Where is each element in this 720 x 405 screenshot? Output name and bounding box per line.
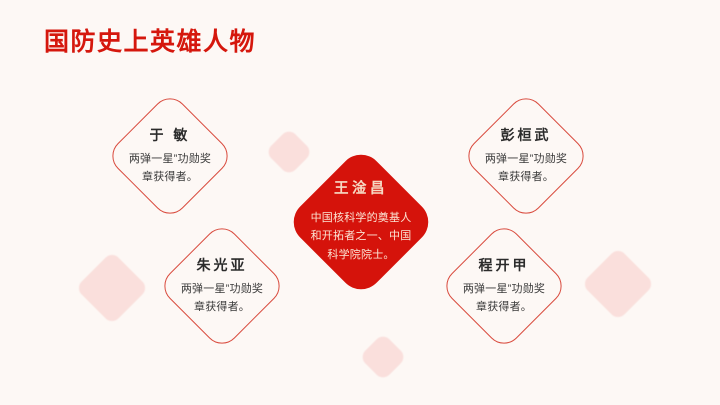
- hero-card-penghuanwu-description: 两弹一星”功勋奖章获得者。: [480, 150, 572, 186]
- hero-card-zhuguangya-name: 朱光亚: [197, 256, 248, 276]
- decor-diamond-left-lower: [75, 251, 149, 325]
- decor-diamond-right-lower: [581, 247, 655, 321]
- hero-card-chengkaijia-name: 程开甲: [479, 256, 530, 276]
- hero-card-yumin-name: 于 敏: [150, 126, 191, 146]
- hero-card-yumin-content: 于 敏 两弹一星”功勋奖章获得者。: [107, 93, 233, 219]
- hero-card-wanggan-content: 王淦昌 中国核科学的奠基人和开拓者之一、中国科学院院士。: [287, 148, 435, 296]
- page-title: 国防史上英雄人物: [44, 27, 256, 57]
- hero-card-zhuguangya-content: 朱光亚 两弹一星”功勋奖章获得者。: [159, 223, 285, 349]
- hero-card-penghuanwu[interactable]: 彭桓武 两弹一星”功勋奖章获得者。: [461, 91, 591, 221]
- hero-card-chengkaijia[interactable]: 程开甲 两弹一星”功勋奖章获得者。: [439, 221, 569, 351]
- hero-card-wanggan[interactable]: 王淦昌 中国核科学的奠基人和开拓者之一、中国科学院院士。: [285, 146, 438, 299]
- hero-card-chengkaijia-content: 程开甲 两弹一星”功勋奖章获得者。: [441, 223, 567, 349]
- hero-card-penghuanwu-name: 彭桓武: [501, 126, 552, 146]
- hero-card-zhuguangya-description: 两弹一星”功勋奖章获得者。: [176, 280, 268, 316]
- hero-card-penghuanwu-content: 彭桓武 两弹一星”功勋奖章获得者。: [463, 93, 589, 219]
- hero-card-wanggan-name: 王淦昌: [334, 179, 388, 199]
- hero-card-chengkaijia-description: 两弹一星”功勋奖章获得者。: [458, 280, 550, 316]
- decor-diamond-bottom-mid: [359, 333, 407, 381]
- hero-card-yumin-description: 两弹一星”功勋奖章获得者。: [124, 150, 216, 186]
- hero-card-zhuguangya[interactable]: 朱光亚 两弹一星”功勋奖章获得者。: [157, 221, 287, 351]
- hero-card-yumin[interactable]: 于 敏 两弹一星”功勋奖章获得者。: [105, 91, 235, 221]
- slide-canvas: 国防史上英雄人物 于 敏 两弹一星”功勋奖章获得者。 朱光亚 两弹一星”功勋奖章…: [0, 0, 720, 405]
- hero-card-wanggan-description: 中国核科学的奠基人和开拓者之一、中国科学院院士。: [309, 209, 413, 265]
